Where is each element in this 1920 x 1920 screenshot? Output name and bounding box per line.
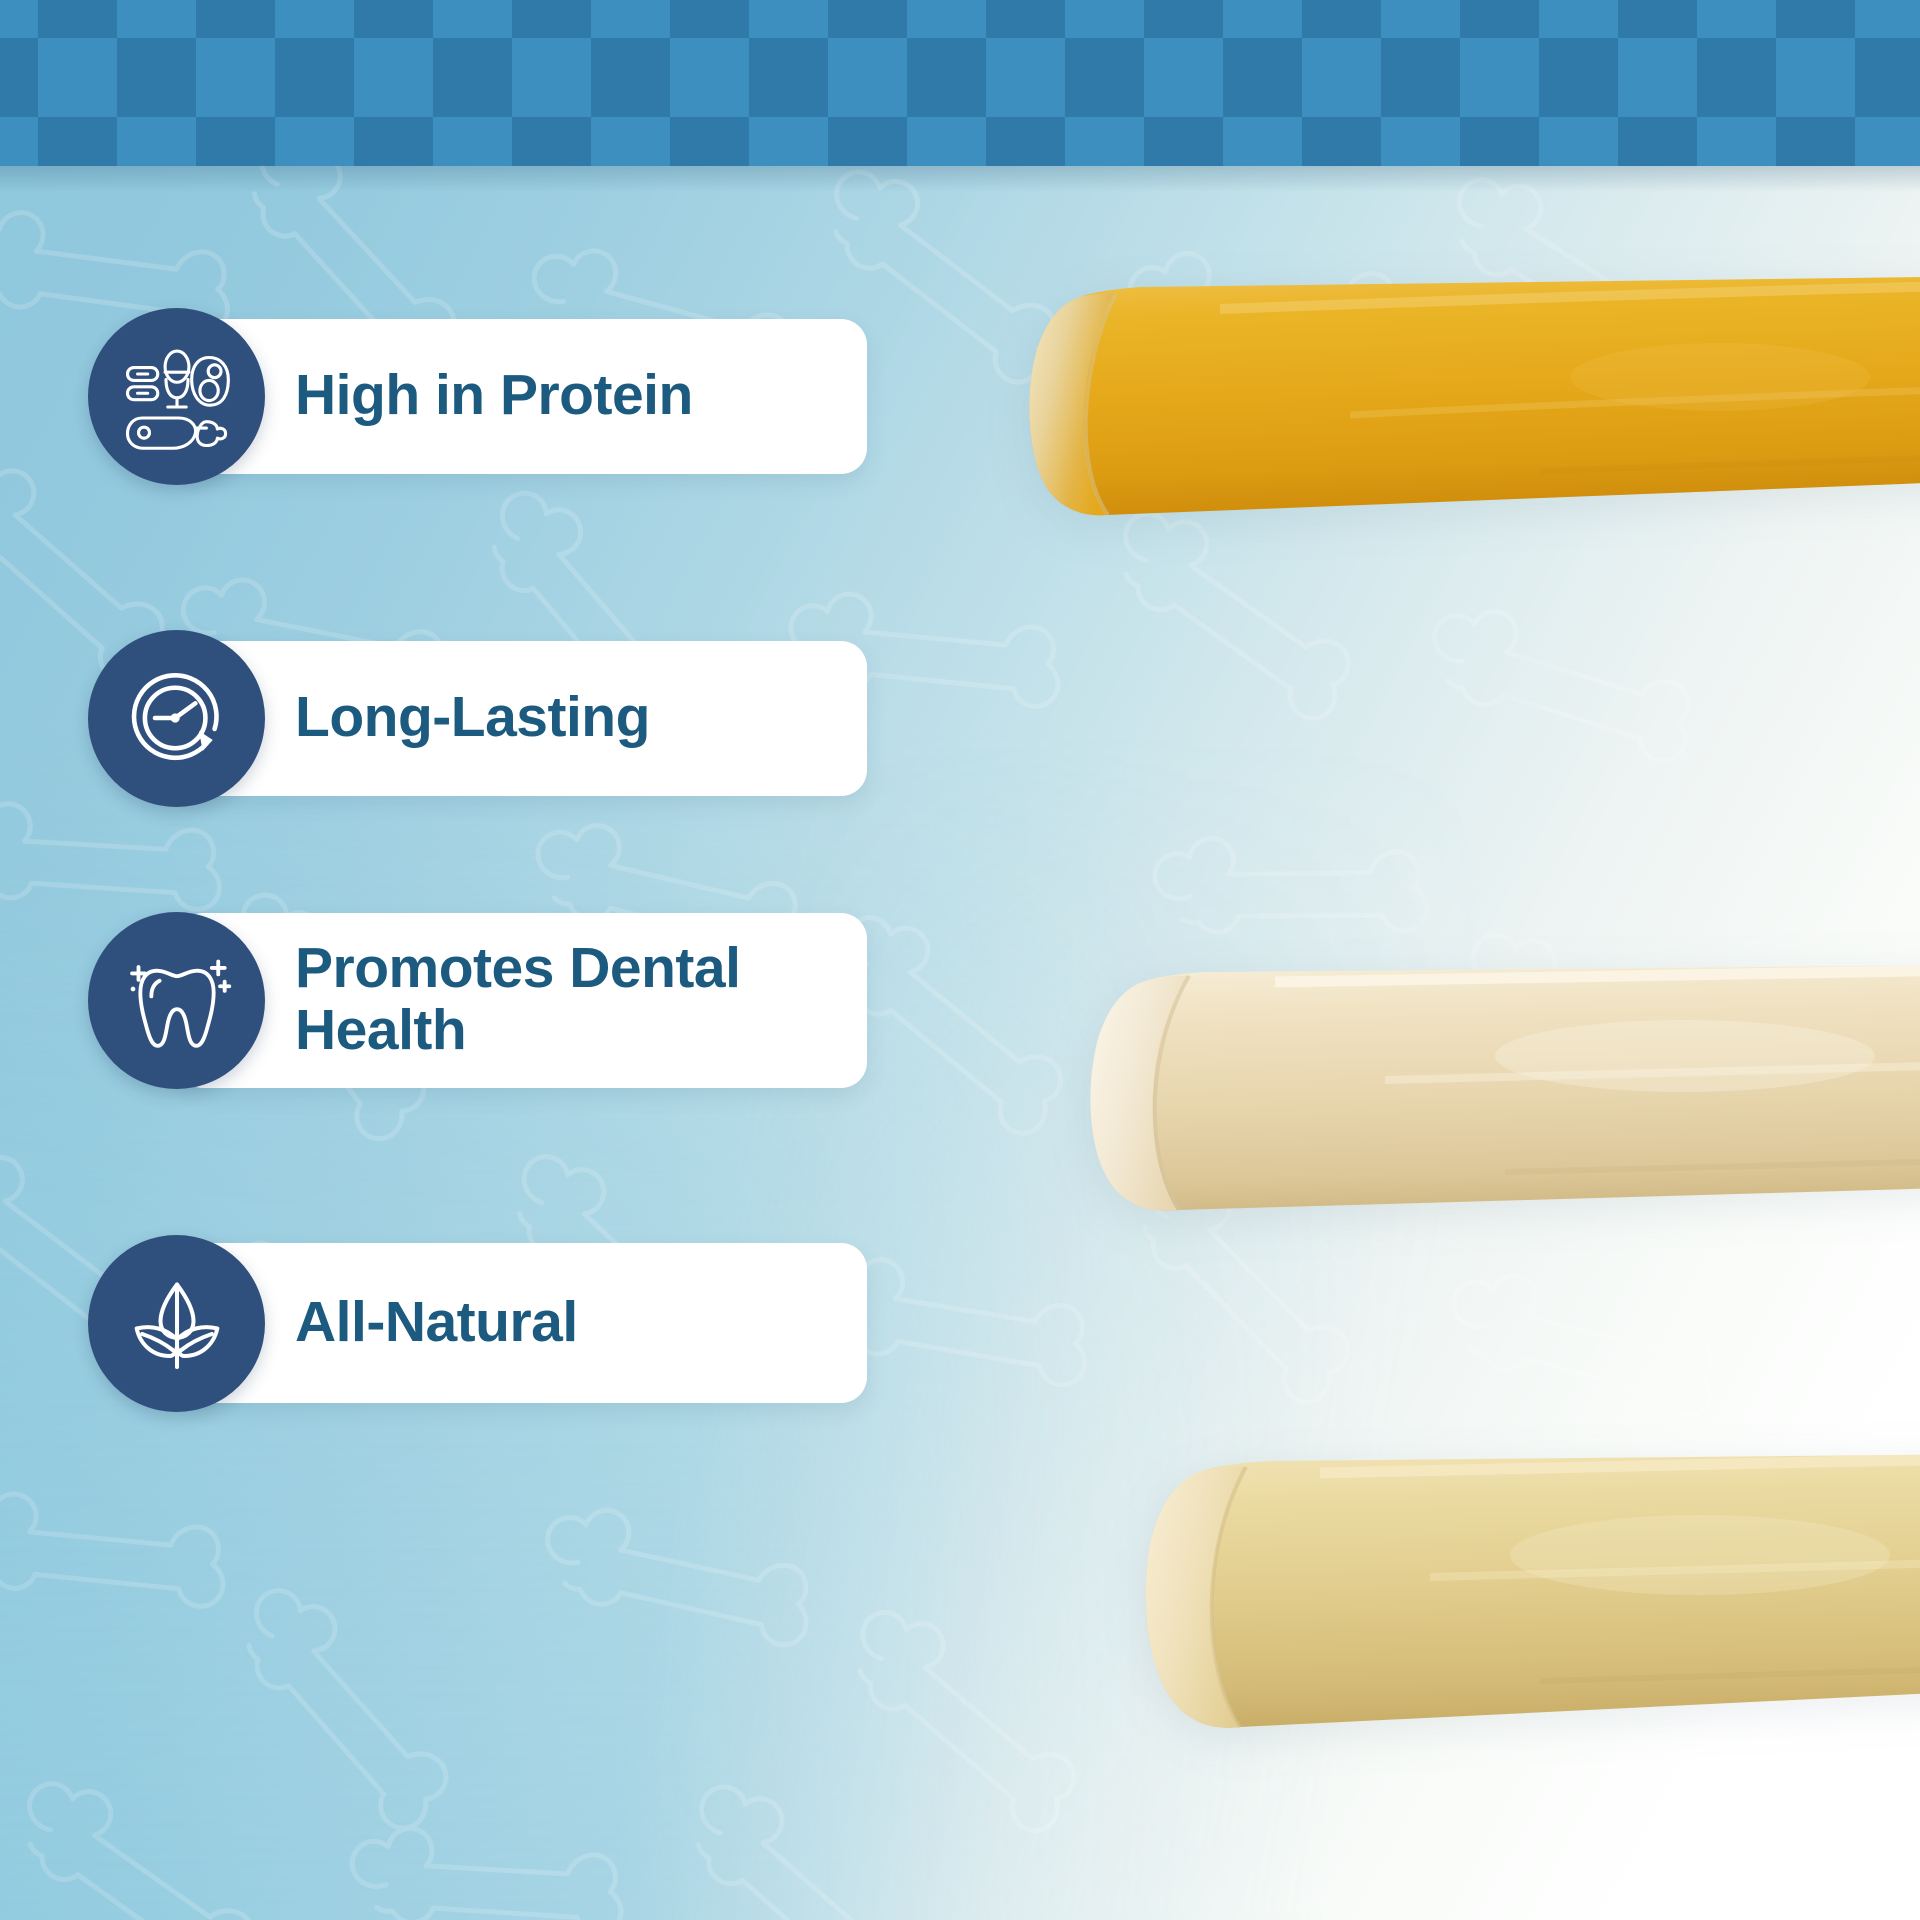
leaf-sprout-icon-badge: [88, 1235, 265, 1412]
leaf-sprout-icon: [122, 1268, 232, 1378]
feature-label-dental-line1: Promotes Dental: [295, 936, 740, 1000]
feature-row-protein: High in Protein: [88, 296, 867, 496]
feature-card-dental: Promotes Dental Health: [177, 913, 867, 1088]
feature-row-long-lasting: Long-Lasting: [88, 618, 867, 818]
protein-foods-icon-badge: [88, 308, 265, 485]
clock-arrow-icon: [122, 663, 232, 773]
feature-row-dental: Promotes Dental Health: [88, 900, 867, 1100]
argyle-pattern: [0, 0, 1920, 166]
rawhide-chew-golden: [1020, 265, 1920, 625]
sparkling-tooth-icon-badge: [88, 912, 265, 1089]
rawhide-chew-cream: [1085, 960, 1920, 1280]
feature-label-dental-line2: Health: [295, 998, 466, 1062]
feature-label-long-lasting: Long-Lasting: [295, 687, 650, 749]
feature-card-protein: High in Protein: [177, 319, 867, 474]
product-feature-graphic: High in Protein Long-Lasting: [0, 0, 1920, 1920]
feature-label-natural: All-Natural: [295, 1292, 578, 1354]
feature-label-dental: Promotes Dental Health: [295, 938, 740, 1061]
feature-card-natural: All-Natural: [177, 1243, 867, 1403]
sparkling-tooth-icon: [122, 945, 232, 1055]
feature-card-long-lasting: Long-Lasting: [177, 641, 867, 796]
header-argyle-band: [0, 0, 1920, 166]
rawhide-chew-tan: [1140, 1445, 1920, 1825]
protein-foods-icon: [122, 341, 232, 451]
feature-row-natural: All-Natural: [88, 1223, 867, 1423]
feature-label-protein: High in Protein: [295, 365, 693, 427]
clock-arrow-icon-badge: [88, 630, 265, 807]
